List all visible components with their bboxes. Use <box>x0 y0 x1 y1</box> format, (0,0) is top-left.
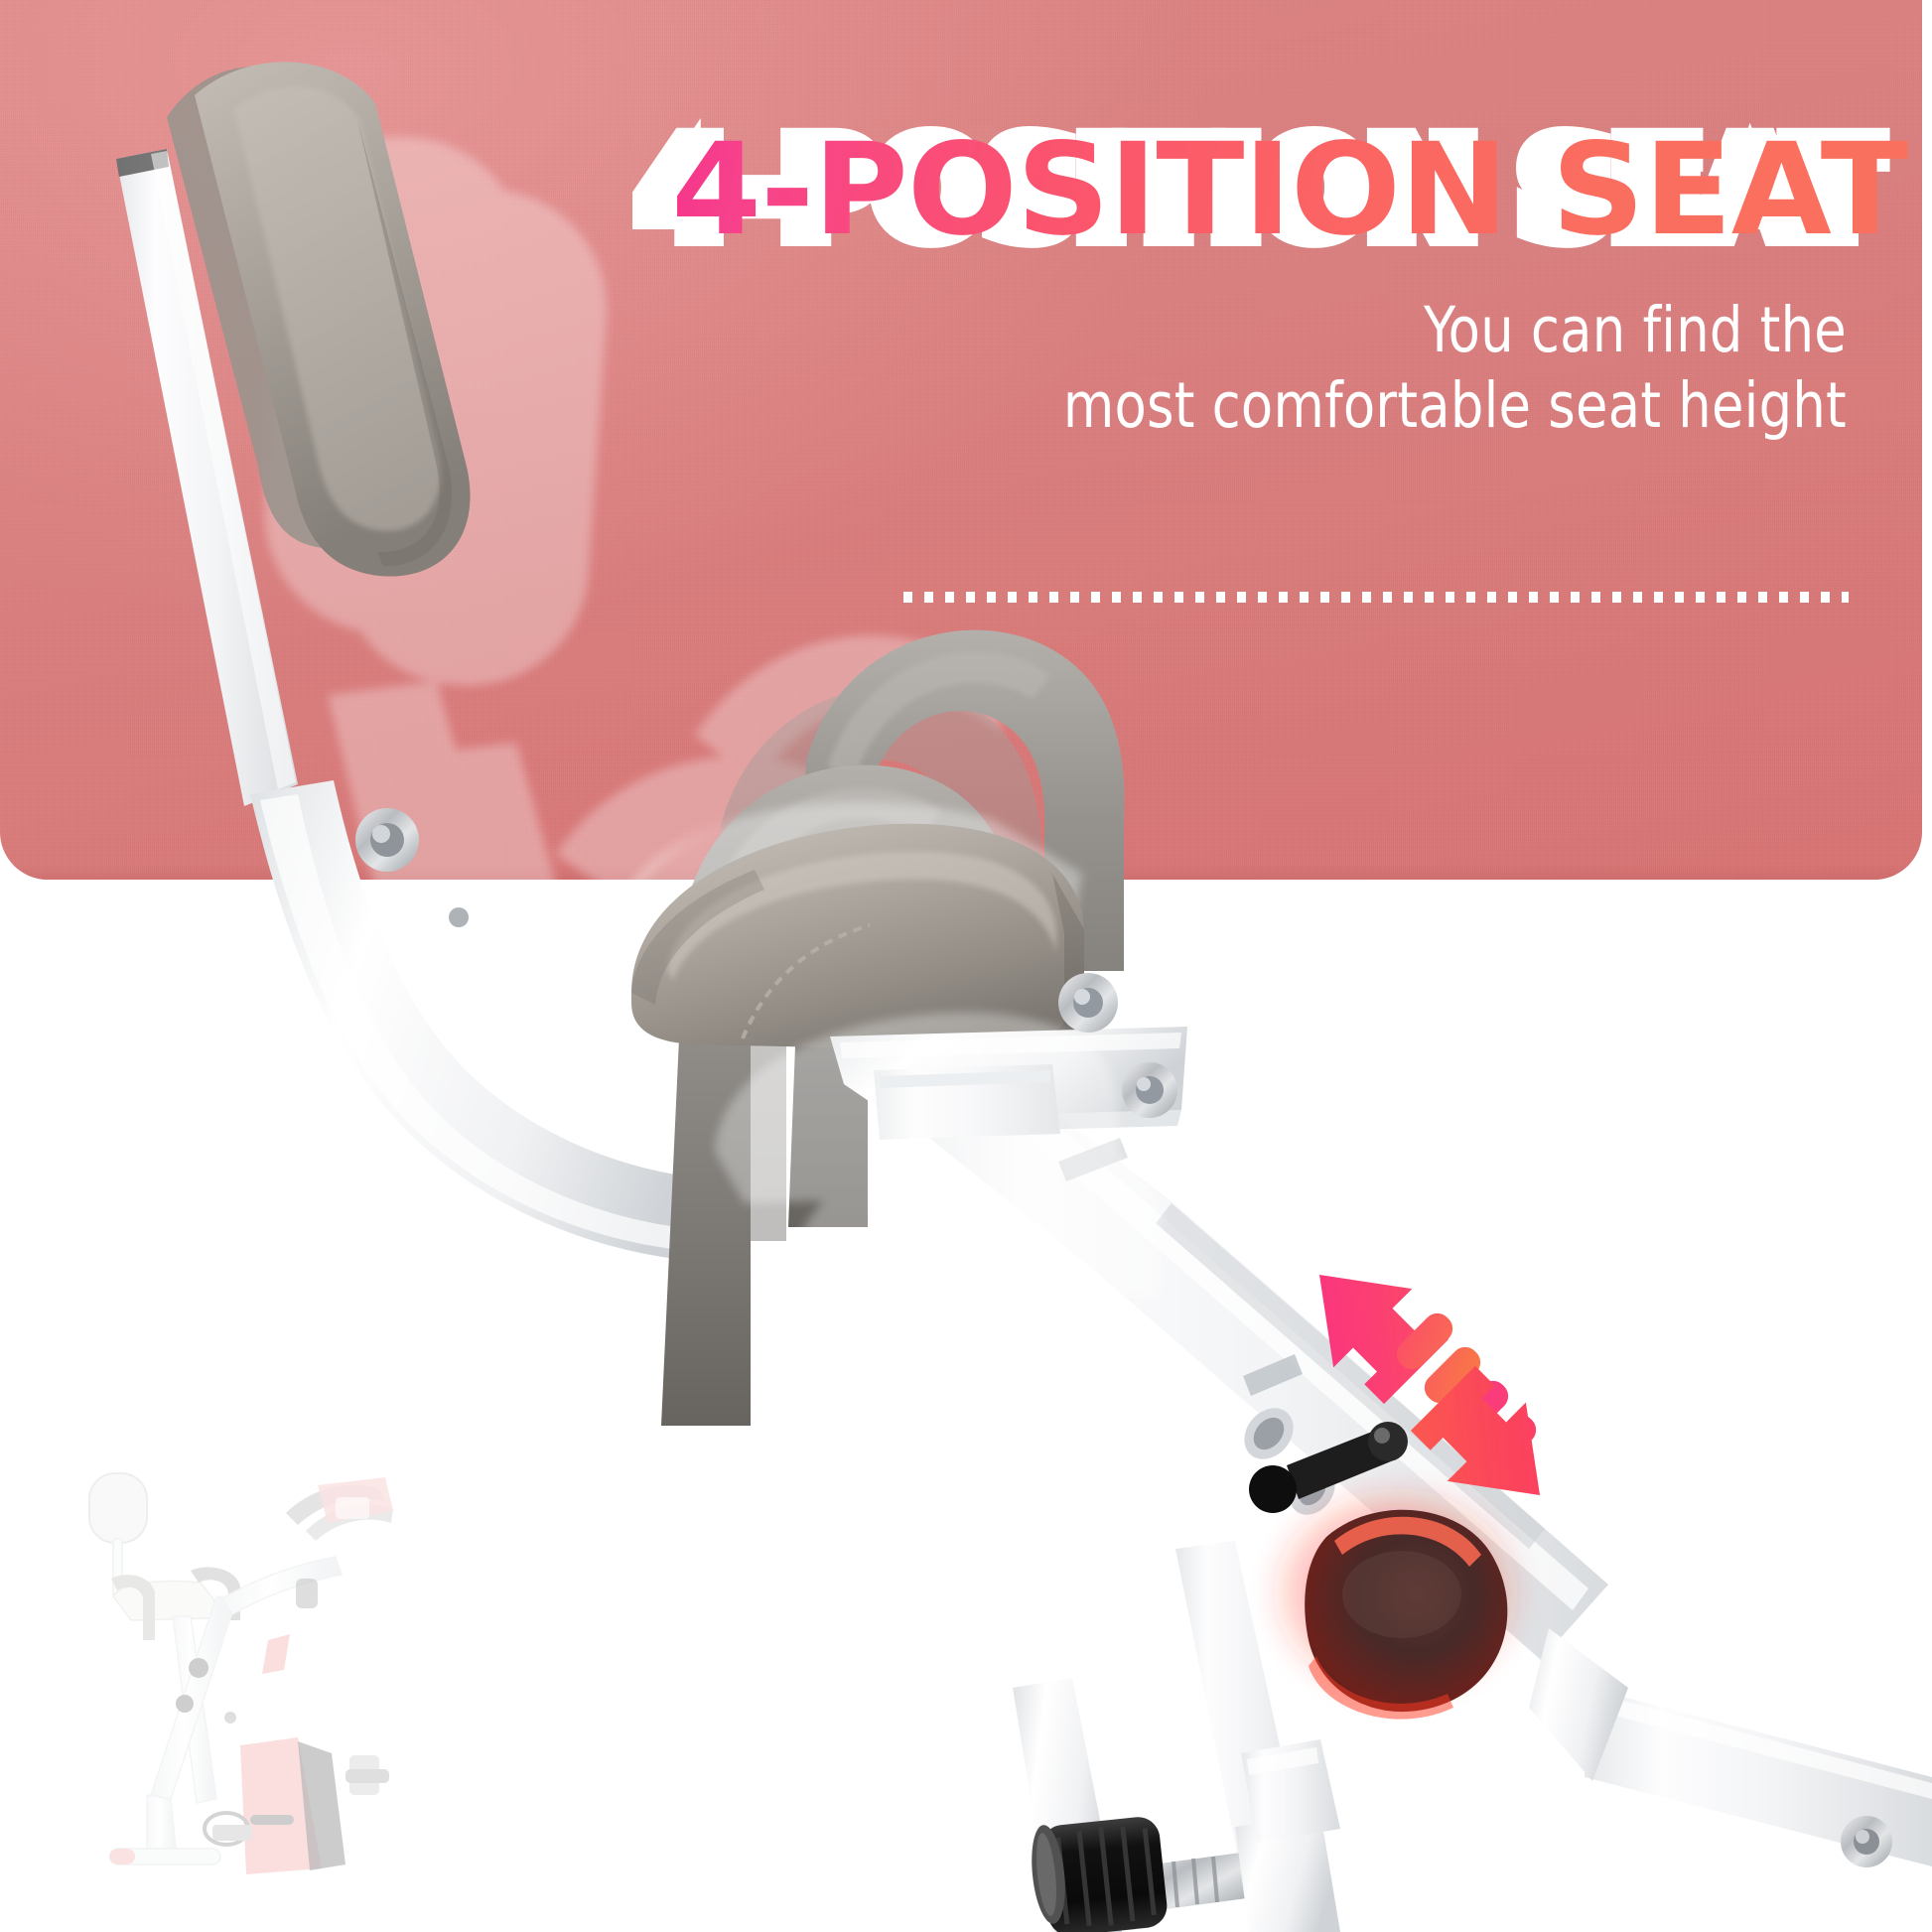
page-title-fill: 4-POSITION SEAT <box>671 116 1908 264</box>
full-bike-thumbnail <box>52 1471 421 1888</box>
subtitle-line-1: You can find the <box>739 293 1847 368</box>
seat-height-adjust-arrow <box>1281 1221 1579 1549</box>
seat-ghost-positions <box>715 1013 1162 1418</box>
thumbnail-handlebar <box>286 1477 393 1541</box>
tension-knob <box>1028 1813 1340 1932</box>
dotted-divider <box>903 592 1849 603</box>
subtitle-line-2: most comfortable seat height <box>739 368 1847 444</box>
panel-bottom-shade <box>0 864 1922 880</box>
frame-notch-details <box>1058 1138 1303 1396</box>
thumbnail-flywheel <box>240 1737 389 1874</box>
main-frame <box>250 780 1932 1932</box>
seat-mount-plate <box>830 973 1187 1140</box>
subtitle: You can find the most comfortable seat h… <box>739 293 1847 443</box>
page-title: 4-POSITION SEAT 4-POSITION SEAT <box>671 127 1876 254</box>
marketing-banner: 4-POSITION SEAT 4-POSITION SEAT You can … <box>0 0 1932 1932</box>
right-bracket <box>1241 1739 1340 1843</box>
